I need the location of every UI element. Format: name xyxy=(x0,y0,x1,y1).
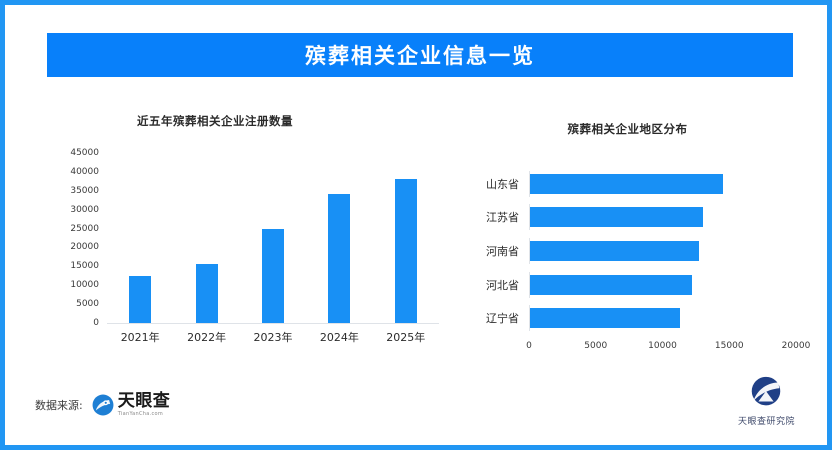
brand-name: 天眼查 xyxy=(118,393,171,410)
x-axis-tick-label: 20000 xyxy=(782,341,811,351)
category-label: 河南省 xyxy=(455,243,529,259)
bar-row: 山东省 xyxy=(455,171,796,197)
y-axis-labels: 0500010000150002000025000300003500040000… xyxy=(45,153,103,323)
x-axis-tick-label: 15000 xyxy=(715,341,744,351)
bar-column xyxy=(173,153,239,323)
y-axis-tick-label: 35000 xyxy=(70,186,99,196)
bar-track xyxy=(529,204,796,230)
bar xyxy=(530,308,680,328)
category-label: 江苏省 xyxy=(455,209,529,225)
x-axis-tick-label: 2025年 xyxy=(373,329,439,345)
bar-row: 河南省 xyxy=(455,238,796,264)
data-source-label: 数据来源: xyxy=(35,397,83,413)
bar xyxy=(395,179,417,323)
bar-column xyxy=(373,153,439,323)
bar xyxy=(262,229,284,323)
y-axis-tick-label: 5000 xyxy=(76,299,99,309)
vertical-bar-chart: 0500010000150002000025000300003500040000… xyxy=(45,153,445,343)
institute-name: 天眼查研究院 xyxy=(738,414,795,427)
bar xyxy=(530,174,723,194)
x-axis-tick-label: 5000 xyxy=(584,341,607,351)
y-axis-tick-label: 45000 xyxy=(70,148,99,158)
category-label: 河北省 xyxy=(455,277,529,293)
bar-series xyxy=(107,153,439,323)
chart-title-regions: 殡葬相关企业地区分布 xyxy=(455,121,800,137)
bar-row: 辽宁省 xyxy=(455,305,796,331)
y-axis-tick-label: 20000 xyxy=(70,242,99,252)
bar-track xyxy=(529,305,796,331)
institute-logo: 天眼查研究院 xyxy=(738,374,795,427)
y-axis-tick-label: 25000 xyxy=(70,224,99,234)
category-label: 山东省 xyxy=(455,176,529,192)
bar-column xyxy=(107,153,173,323)
tianyancha-eye-icon xyxy=(92,394,114,416)
bar-column xyxy=(240,153,306,323)
bar-row: 河北省 xyxy=(455,272,796,298)
bar xyxy=(328,194,350,323)
page-title: 殡葬相关企业信息一览 xyxy=(305,40,535,70)
bar xyxy=(129,276,151,323)
chart-panel-regions: 殡葬相关企业地区分布 山东省江苏省河南省河北省辽宁省 0500010000150… xyxy=(455,105,800,370)
bar-column xyxy=(306,153,372,323)
x-axis-tick-label: 0 xyxy=(526,341,532,351)
title-banner: 殡葬相关企业信息一览 xyxy=(47,33,793,77)
x-axis-tick-label: 2021年 xyxy=(107,329,173,345)
bar-track xyxy=(529,238,796,264)
bar-row: 江苏省 xyxy=(455,204,796,230)
chart-title-registrations: 近五年殡葬相关企业注册数量 xyxy=(0,113,445,129)
y-axis-tick-label: 10000 xyxy=(70,280,99,290)
bar xyxy=(530,241,699,261)
bar xyxy=(530,207,703,227)
x-axis-tick-label: 2023年 xyxy=(240,329,306,345)
brand-domain: TianYanCha.com xyxy=(118,412,171,417)
x-axis-tick-label: 2022年 xyxy=(173,329,239,345)
bar-series: 山东省江苏省河南省河北省辽宁省 xyxy=(455,167,796,335)
x-axis-labels: 05000100001500020000 xyxy=(529,341,796,355)
bar xyxy=(196,264,218,323)
bar-track xyxy=(529,272,796,298)
institute-mark-icon xyxy=(746,374,786,412)
y-axis-tick-label: 40000 xyxy=(70,167,99,177)
bar-track xyxy=(529,171,796,197)
tianyancha-wordmark: 天眼查 TianYanCha.com xyxy=(118,393,171,417)
tianyancha-logo: 天眼查 TianYanCha.com xyxy=(92,393,171,417)
x-axis-tick-label: 2024年 xyxy=(306,329,372,345)
bar xyxy=(530,275,692,295)
category-label: 辽宁省 xyxy=(455,310,529,326)
infographic-page: 殡葬相关企业信息一览 近五年殡葬相关企业注册数量 050001000015000… xyxy=(0,0,832,450)
y-axis-tick-label: 15000 xyxy=(70,261,99,271)
chart-panel-registrations: 近五年殡葬相关企业注册数量 05000100001500020000250003… xyxy=(45,105,445,370)
horizontal-bar-chart: 山东省江苏省河南省河北省辽宁省 05000100001500020000 xyxy=(455,167,800,367)
plot-area xyxy=(107,153,439,324)
x-axis-tick-label: 10000 xyxy=(648,341,677,351)
y-axis-tick-label: 0 xyxy=(93,318,99,328)
y-axis-tick-label: 30000 xyxy=(70,205,99,215)
data-source-footer: 数据来源: 天眼查 TianYanCha.com xyxy=(35,393,170,417)
x-axis-labels: 2021年2022年2023年2024年2025年 xyxy=(107,329,439,345)
